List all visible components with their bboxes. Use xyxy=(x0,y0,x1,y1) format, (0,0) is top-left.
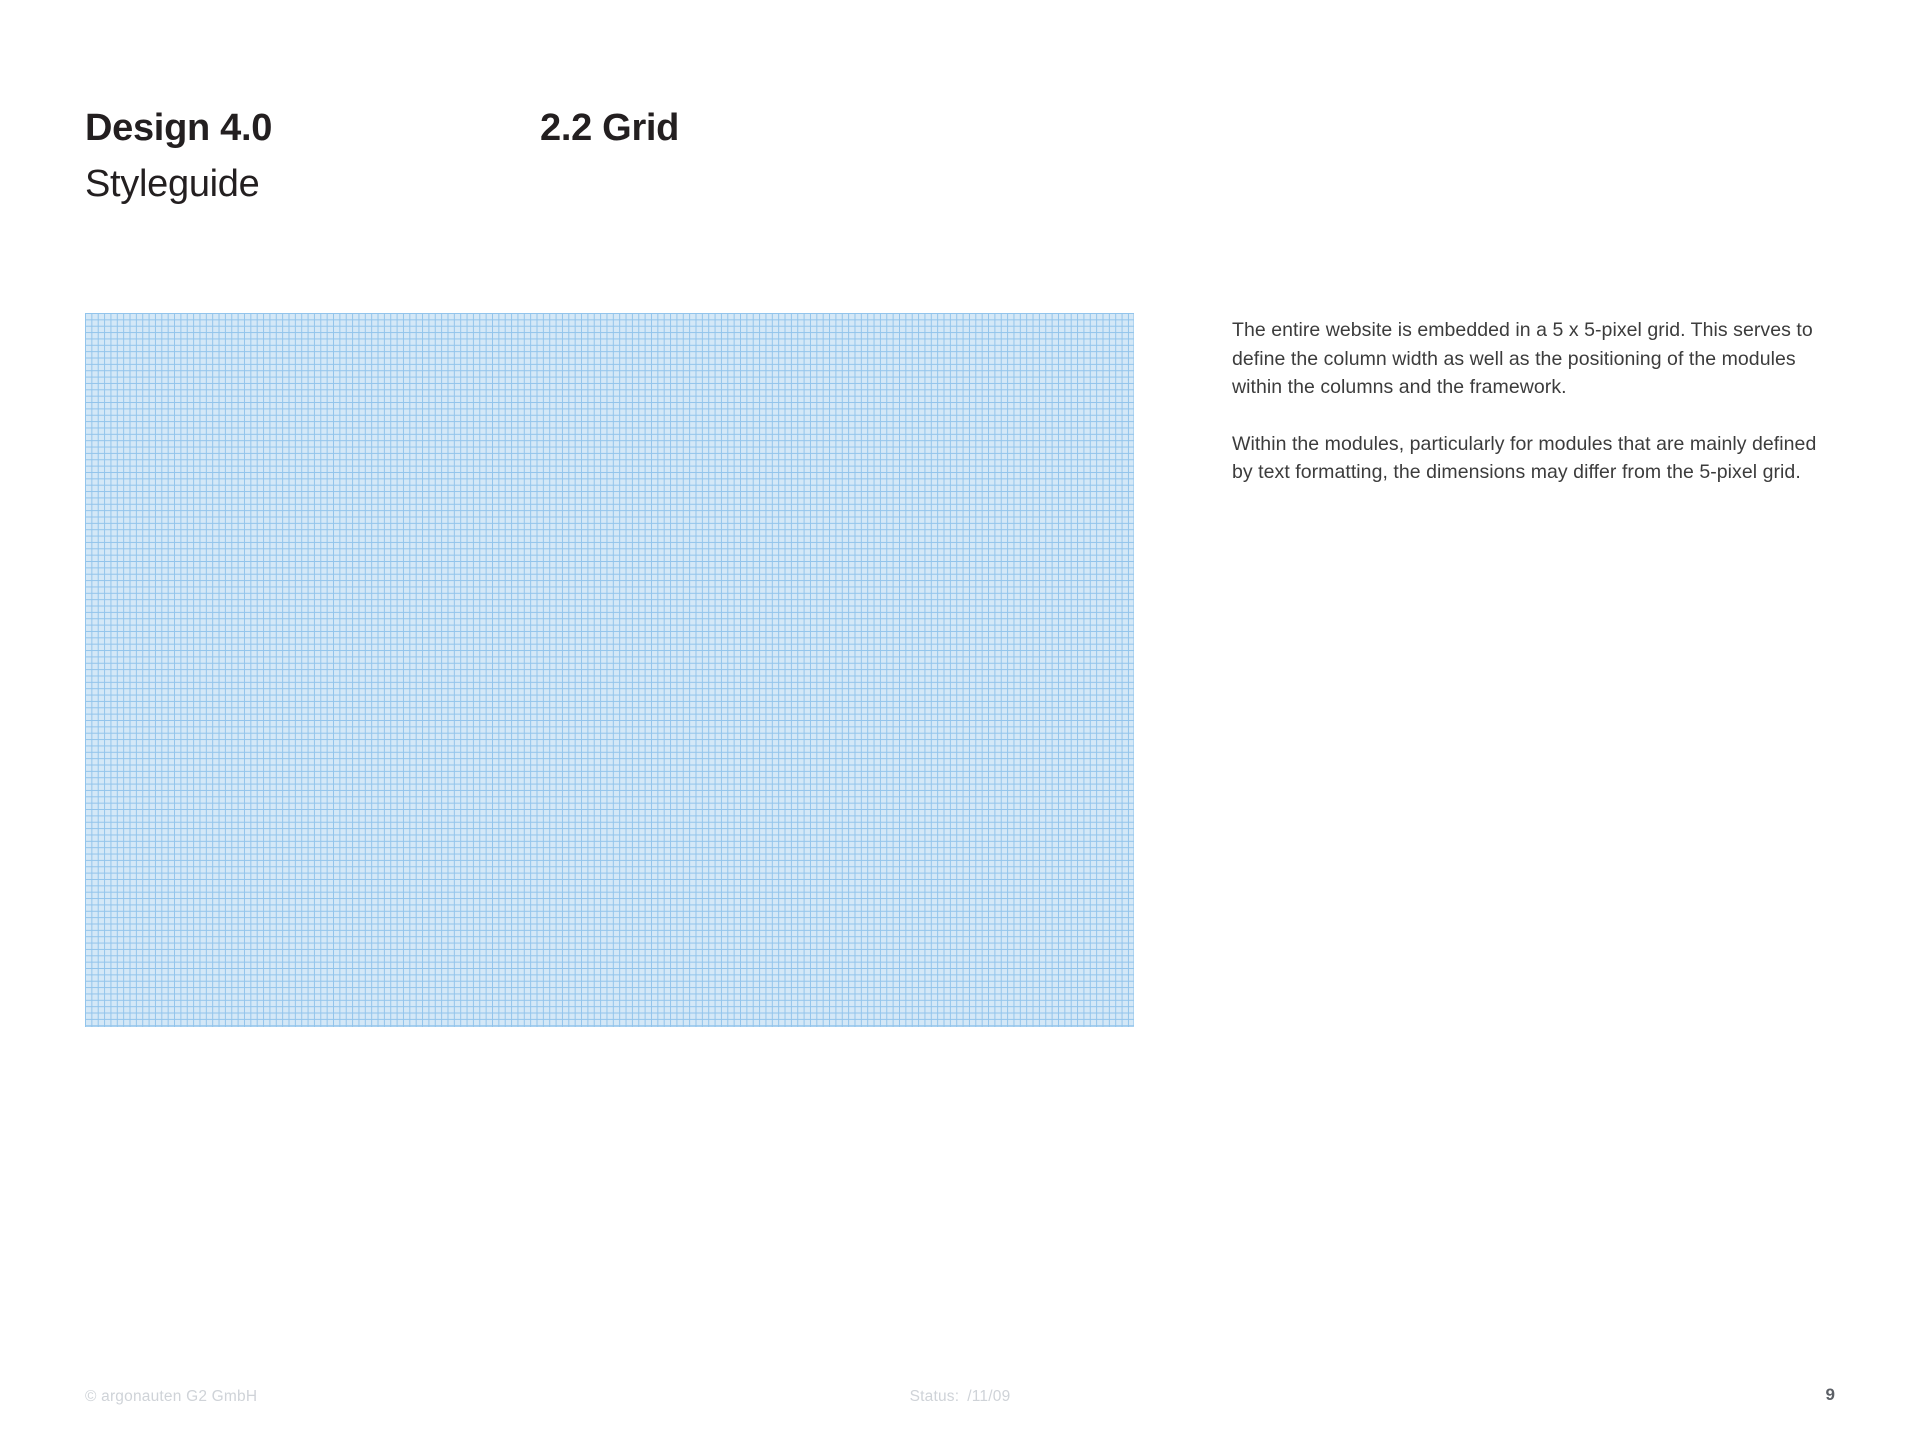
document-title: Design 4.0 Styleguide xyxy=(85,100,525,212)
page-header: Design 4.0 Styleguide 2.2 Grid xyxy=(85,100,1835,210)
document-title-line-1: Design 4.0 xyxy=(85,100,525,156)
footer-status-value: /11/09 xyxy=(967,1388,1010,1405)
description-paragraph-1: The entire website is embedded in a 5 x … xyxy=(1232,316,1832,402)
footer-copyright: © argonauten G2 GmbH xyxy=(85,1388,257,1406)
grid-figure xyxy=(85,313,1134,1027)
footer-status: Status:/11/09 xyxy=(910,1388,1011,1406)
footer-status-label: Status: xyxy=(910,1388,960,1405)
description-paragraph-2: Within the modules, particularly for mod… xyxy=(1232,430,1832,487)
page-footer: © argonauten G2 GmbH Status:/11/09 9 xyxy=(0,1370,1920,1440)
section-title: 2.2 Grid xyxy=(540,100,679,156)
page-number: 9 xyxy=(1826,1385,1835,1405)
document-title-line-2: Styleguide xyxy=(85,156,525,212)
description-column: The entire website is embedded in a 5 x … xyxy=(1232,316,1832,487)
